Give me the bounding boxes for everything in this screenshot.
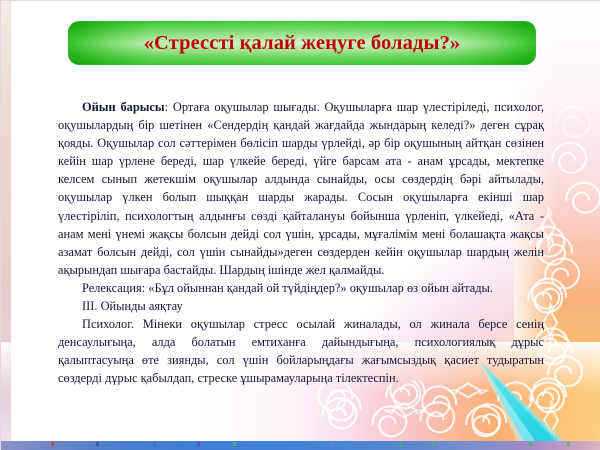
paragraph-lead-label: Ойын барысы xyxy=(82,100,165,114)
strip-dot xyxy=(431,442,434,446)
slide-title-banner: «Стрессті қалай жеңуге болады?» xyxy=(68,21,536,65)
strip-dot xyxy=(529,442,532,446)
paragraph-game-process: Ойын барысы: Ортаға оқушылар шығады. Оқу… xyxy=(58,98,544,279)
slide-body: Ойын барысы: Ортаға оқушылар шығады. Оқу… xyxy=(58,98,544,388)
paragraph-section-heading: III. Ойынды аяқтау xyxy=(58,297,544,315)
slide-title: «Стрессті қалай жеңуге болады?» xyxy=(144,33,461,54)
strip-dot xyxy=(51,442,54,446)
strip-dot xyxy=(153,442,156,446)
slide-canvas: «Стрессті қалай жеңуге болады?» Ойын бар… xyxy=(0,0,600,450)
bottom-status-strip xyxy=(1,441,600,450)
strip-dot xyxy=(233,442,236,446)
paragraph-relaxation: Релексация: «Бұл ойыннан қандай ой түйді… xyxy=(58,279,544,297)
strip-dot xyxy=(331,442,334,446)
strip-dot xyxy=(197,442,200,446)
strip-dot xyxy=(96,442,99,446)
strip-dot xyxy=(399,442,402,446)
paragraph-psychologist-closing: Психолог. Мінеки оқушылар стресс осылай … xyxy=(58,315,544,387)
strip-dot xyxy=(567,442,570,446)
paragraph-game-process-text: : Ортаға оқушылар шығады. Оқушыларға шар… xyxy=(58,100,544,277)
